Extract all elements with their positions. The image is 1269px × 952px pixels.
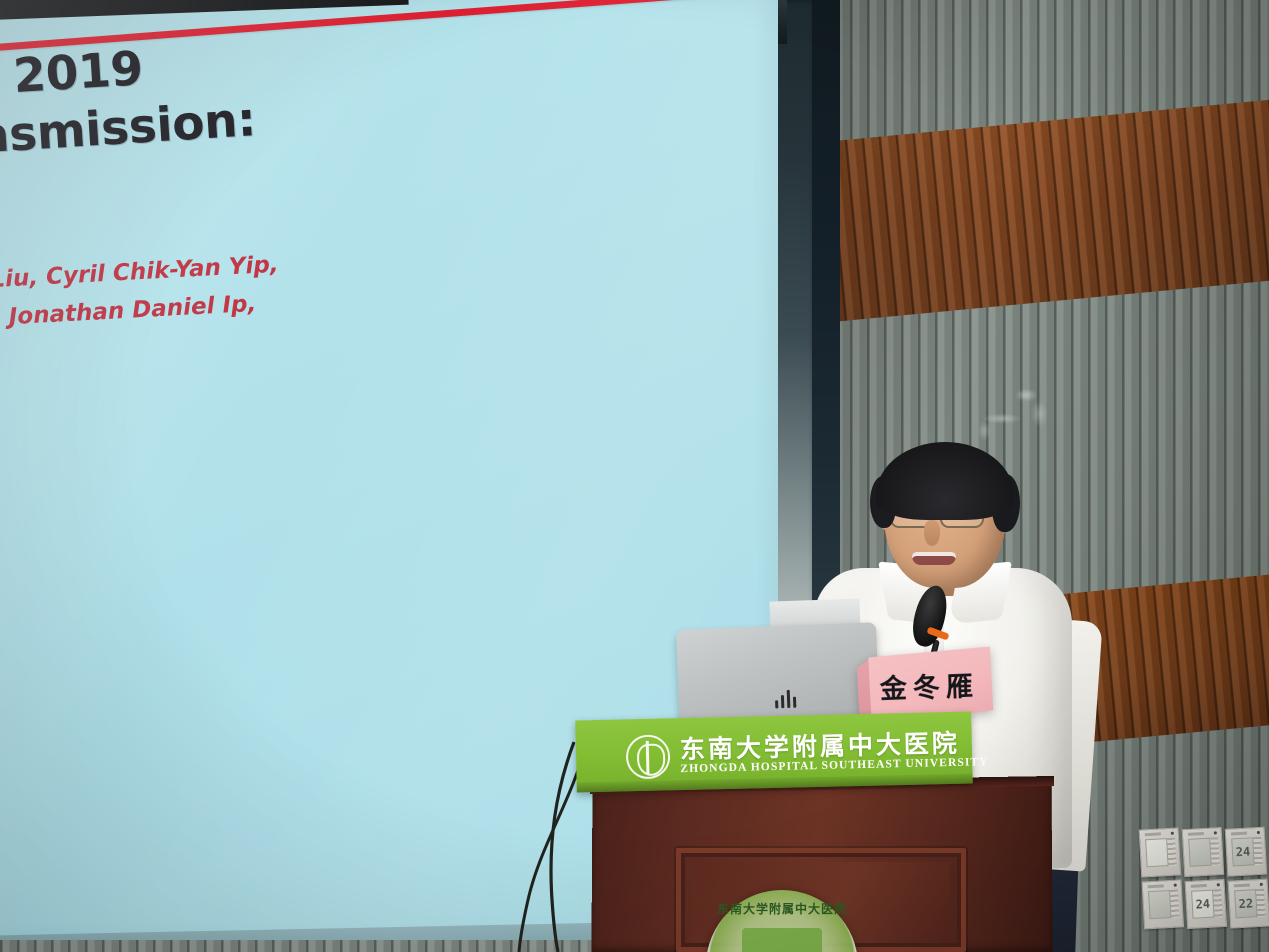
panel-brand-mark	[1145, 832, 1161, 836]
photo-scene: ed with the 2019 person transmission: g,…	[0, 0, 1269, 952]
panel-brand-mark	[1188, 832, 1204, 836]
panel-brand-mark	[1191, 884, 1207, 888]
podium-emblem-text: 东南大学附属中大医院	[716, 900, 848, 917]
wall-control-panel-group: 24 24 22	[1139, 823, 1269, 952]
panel-led-icon	[1174, 884, 1177, 887]
panel-buttons[interactable]	[1210, 837, 1220, 865]
slide-title-block: ed with the 2019 person transmission:	[0, 5, 713, 184]
panel-display: 24	[1231, 837, 1255, 866]
panel-display	[1145, 838, 1169, 867]
panel-buttons[interactable]	[1253, 837, 1263, 865]
speaker-nose	[924, 520, 940, 546]
panel-display	[1188, 838, 1212, 867]
thermostat-panel[interactable]	[1139, 827, 1182, 877]
panel-brand-mark	[1148, 884, 1164, 888]
panel-led-icon	[1217, 883, 1220, 886]
panel-led-icon	[1214, 831, 1217, 834]
slide-authors-block: g, Fanfan Xing, Jieling Liu, Cyril Chik-…	[0, 222, 713, 390]
panel-display: 24	[1191, 890, 1215, 919]
panel-led-icon	[1171, 832, 1174, 835]
thermostat-panel[interactable]: 24	[1225, 827, 1268, 877]
hospital-logo-icon	[626, 734, 671, 779]
panel-brand-mark	[1231, 832, 1247, 836]
thermostat-panel[interactable]: 22	[1228, 879, 1269, 929]
panel-buttons[interactable]	[1170, 890, 1180, 918]
panel-buttons[interactable]	[1256, 889, 1266, 917]
thermostat-panel[interactable]	[1182, 827, 1225, 877]
panel-display: 22	[1234, 889, 1258, 918]
speaker-hair	[876, 442, 1014, 520]
speaker-mouth	[912, 552, 956, 565]
panel-buttons[interactable]	[1167, 838, 1177, 866]
thermostat-panel[interactable]: 24	[1185, 879, 1228, 929]
panel-display	[1148, 890, 1172, 919]
name-card-text: 金冬雁	[879, 664, 988, 707]
panel-led-icon	[1257, 831, 1260, 834]
panel-brand-mark	[1234, 884, 1250, 888]
podium-banner: 东南大学附属中大医院 ZHONGDA HOSPITAL SOUTHEAST UN…	[575, 712, 973, 793]
panel-led-icon	[1260, 883, 1263, 886]
panel-buttons[interactable]	[1213, 889, 1223, 917]
laptop-logo-icon	[775, 688, 800, 709]
podium-emblem-inner-shape	[742, 928, 822, 952]
thermostat-panel[interactable]	[1141, 879, 1184, 929]
